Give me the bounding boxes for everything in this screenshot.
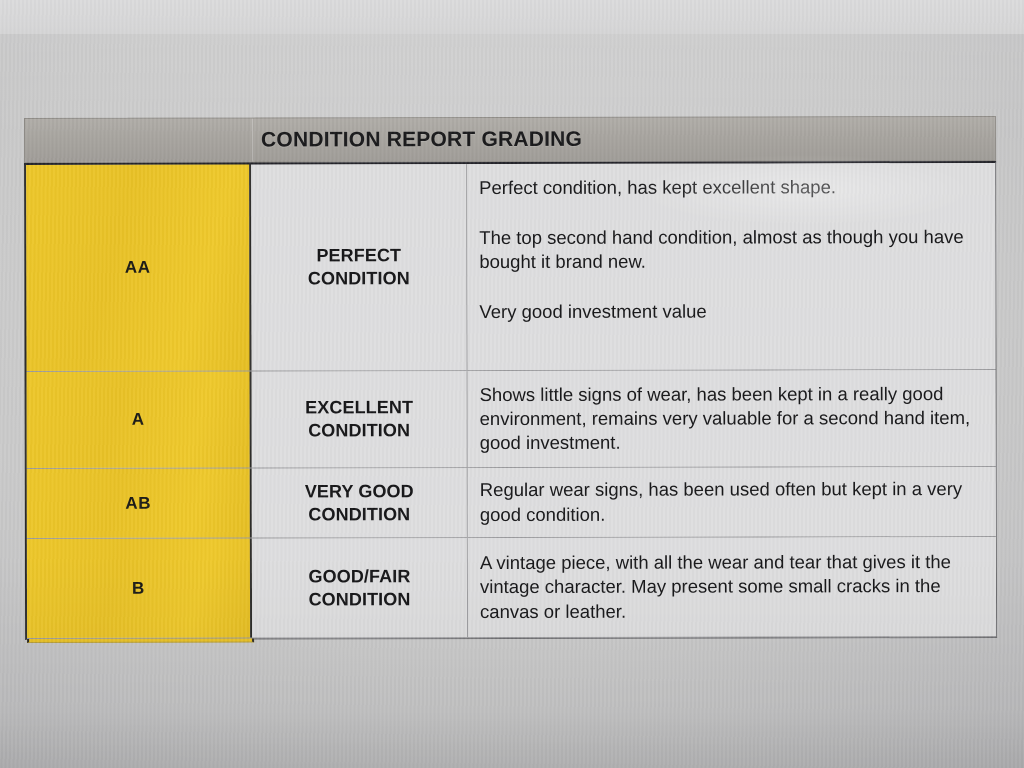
grade-cell-a: A [27, 372, 252, 468]
condition-label: EXCELLENT CONDITION [305, 397, 413, 443]
condition-cell-b: GOOD/FAIR CONDITION [252, 538, 468, 637]
description-paragraph: Shows little signs of wear, has been kep… [480, 382, 980, 455]
description-paragraph: The top second hand condition, almost as… [479, 225, 979, 274]
condition-label: GOOD/FAIR CONDITION [308, 565, 410, 611]
condition-label-line2: CONDITION [308, 420, 410, 440]
condition-label-line2: CONDITION [308, 268, 410, 288]
description-cell-ab: Regular wear signs, has been used often … [468, 467, 996, 537]
description-paragraph: Perfect condition, has kept excellent sh… [479, 175, 979, 200]
grade-label: A [132, 410, 145, 430]
condition-label: VERY GOOD CONDITION [305, 480, 414, 526]
grade-label: AA [125, 258, 151, 278]
grade-cell-ab: AB [27, 469, 252, 538]
sheet-bottom-shadow [0, 710, 1024, 768]
condition-label-line2: CONDITION [308, 504, 410, 524]
condition-label-line1: VERY GOOD [305, 481, 414, 501]
condition-cell-aa: PERFECT CONDITION [251, 164, 467, 370]
condition-label-line1: PERFECT [316, 246, 401, 266]
table-header-title: CONDITION REPORT GRADING [261, 127, 582, 152]
condition-label-line1: EXCELLENT [305, 398, 413, 418]
table-row: AA PERFECT CONDITION Perfect condition, … [26, 163, 995, 372]
description-paragraph: A vintage piece, with all the wear and t… [480, 550, 980, 623]
description-cell-a: Shows little signs of wear, has been kep… [468, 370, 996, 467]
condition-cell-a: EXCELLENT CONDITION [252, 371, 468, 467]
condition-label: PERFECT CONDITION [308, 245, 410, 291]
description-cell-aa: Perfect condition, has kept excellent sh… [467, 163, 995, 370]
table-body: AA PERFECT CONDITION Perfect condition, … [24, 161, 997, 640]
description-paragraph: Very good investment value [479, 299, 979, 324]
table-header-bar: CONDITION REPORT GRADING [24, 116, 996, 163]
table-row: AB VERY GOOD CONDITION Regular wear sign… [27, 467, 996, 539]
sheet-top-margin [0, 0, 1024, 34]
grade-column-overhang [27, 639, 254, 643]
grade-label: B [132, 578, 145, 598]
grade-label: AB [125, 493, 151, 513]
condition-cell-ab: VERY GOOD CONDITION [252, 468, 468, 537]
photographed-document-sheet: CONDITION REPORT GRADING AA PERFECT COND… [0, 0, 1024, 768]
condition-label-line2: CONDITION [309, 589, 411, 609]
grade-cell-b: B [27, 539, 252, 638]
condition-label-line1: GOOD/FAIR [308, 566, 410, 586]
grade-cell-aa: AA [26, 165, 251, 371]
table-row: A EXCELLENT CONDITION Shows little signs… [27, 370, 996, 469]
table-row: B GOOD/FAIR CONDITION A vintage piece, w… [27, 537, 996, 639]
description-paragraph: Regular wear signs, has been used often … [480, 477, 980, 526]
description-cell-b: A vintage piece, with all the wear and t… [468, 537, 996, 637]
condition-report-grading-table: CONDITION REPORT GRADING AA PERFECT COND… [24, 116, 997, 640]
